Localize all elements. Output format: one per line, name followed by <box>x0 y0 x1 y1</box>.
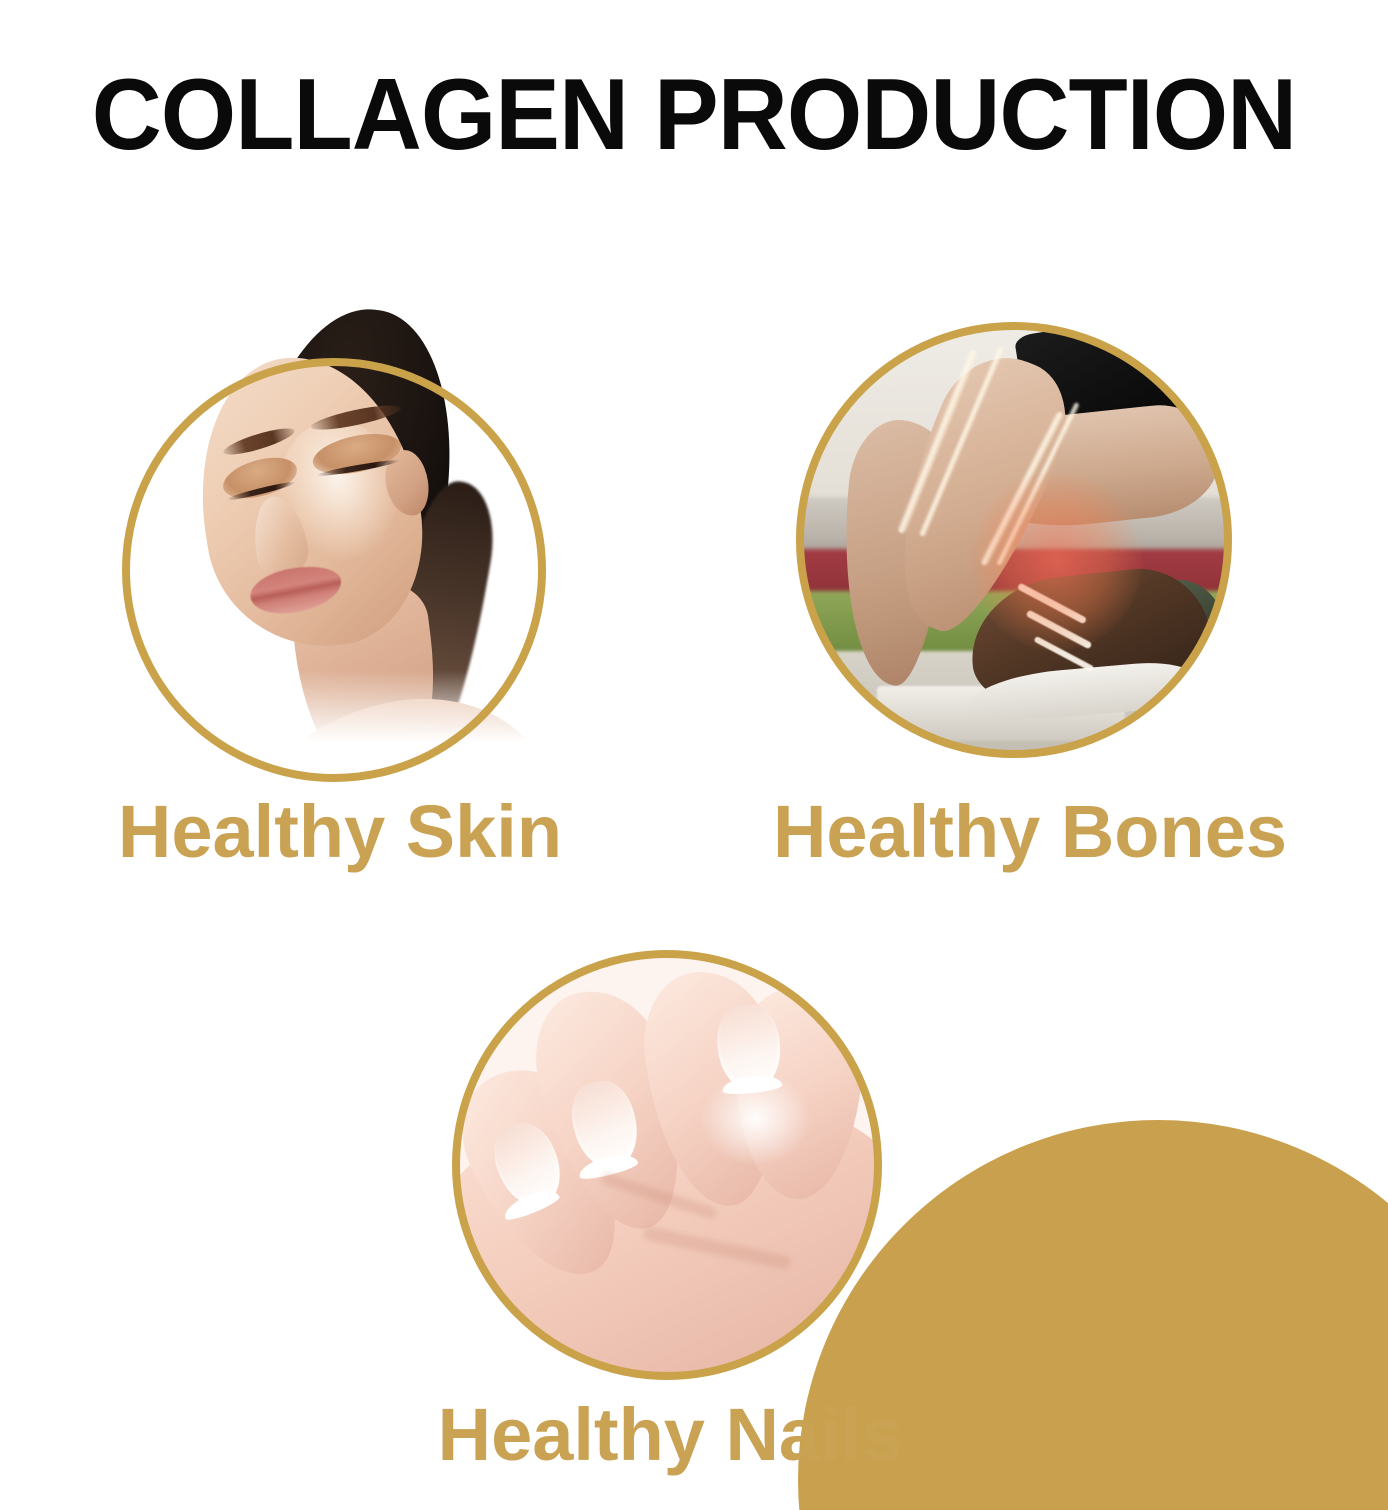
ankle-pain-glow <box>971 472 1142 652</box>
benefit-card-healthy-skin: Healthy Skin <box>0 0 680 900</box>
benefit-label-healthy-skin: Healthy Skin <box>30 795 650 869</box>
benefit-label-healthy-bones: Healthy Bones <box>700 795 1360 869</box>
benefit-card-healthy-bones: Healthy Bones <box>700 0 1388 900</box>
hand-manicured-nails-photo <box>456 954 878 1376</box>
runner-artwork <box>800 326 1228 754</box>
photo-fade <box>150 670 550 760</box>
hand-artwork <box>456 954 878 1376</box>
woman-face-glowing-skin-photo <box>150 300 550 760</box>
portrait-artwork <box>150 300 550 760</box>
skin-highlight <box>701 1072 811 1165</box>
runner-legs-bone-xray-photo <box>800 326 1228 754</box>
benefit-label-healthy-nails: Healthy Nails <box>340 1398 1000 1472</box>
